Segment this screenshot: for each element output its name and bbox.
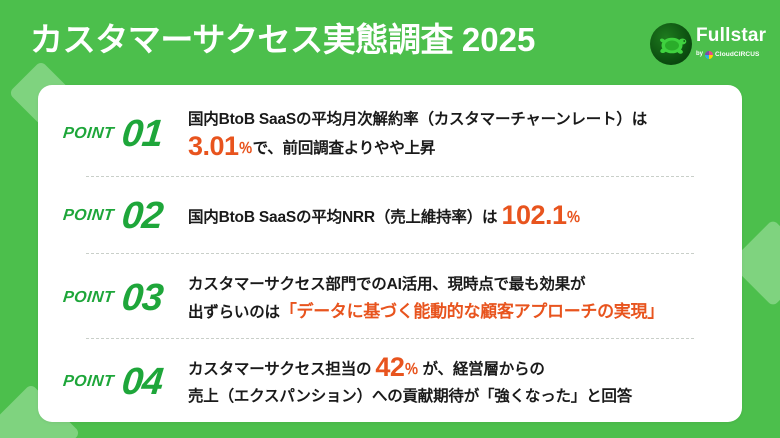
point-badge-03: POINT 03 [38,279,188,317]
point-label: POINT [62,289,115,307]
page-title-main: カスタマーサクセス実態調査 [30,21,453,58]
divider [86,176,694,177]
point-line-1-pre: 国内BtoB SaaSの平均NRR（売上維持率）は [188,209,501,226]
point-number: 03 [120,279,164,317]
point-value-unit: ％ [239,140,253,156]
slide-canvas: カスタマーサクセス実態調査 2025 Fullstar by CloudCIRC… [0,0,780,438]
point-line-2-pre: 出ずらいのは [188,304,280,321]
point-number: 01 [120,115,164,153]
point-line-2: 売上（エクスパンション）への貢献期待が「強くなった」と回答 [188,383,742,410]
point-badge-01: POINT 01 [38,115,188,153]
point-line-1-post: が、経営層からの [418,361,544,378]
point-line-1: 国内BtoB SaaSの平均NRR（売上維持率）は 102.1％ [188,202,742,231]
point-line-1-pre: カスタマーサクセス担当の [188,361,375,378]
point-row: POINT 03 カスタマーサクセス部門でのAI活用、現時点で最も効果が 出ずら… [38,257,742,339]
point-line-1: カスタマーサクセス担当の 42％ が、経営層からの [188,354,742,383]
point-highlight-quote: 「データに基づく能動的な顧客アプローチの実現」 [280,302,664,321]
point-value: 42 [375,352,404,382]
point-line-2-rest: で、前回調査よりやや上昇 [253,140,436,157]
turtle-icon [650,23,692,65]
slide-header: カスタマーサクセス実態調査 2025 Fullstar by CloudCIRC… [0,0,780,84]
point-row: POINT 01 国内BtoB SaaSの平均月次解約率（カスタマーチャーンレー… [38,93,742,175]
logo-company-name: CloudCIRCUS [715,50,759,59]
point-value-unit: ％ [404,361,418,377]
point-label: POINT [62,373,115,391]
point-label: POINT [62,207,115,225]
point-value-unit: ％ [567,209,581,225]
page-title: カスタマーサクセス実態調査 2025 [30,18,535,62]
point-line-1: 国内BtoB SaaSの平均月次解約率（カスタマーチャーンレート）は [188,106,742,133]
page-title-year: 2025 [462,21,535,58]
points-card: POINT 01 国内BtoB SaaSの平均月次解約率（カスタマーチャーンレー… [38,85,742,422]
cloudcircus-icon [705,51,713,59]
logo-wordmark: Fullstar [696,26,766,45]
point-text-01: 国内BtoB SaaSの平均月次解約率（カスタマーチャーンレート）は 3.01％… [188,106,742,162]
point-value: 3.01 [188,131,239,161]
logo-by-label: by [696,50,703,59]
point-line-1: カスタマーサクセス部門でのAI活用、現時点で最も効果が [188,271,742,298]
point-text-02: 国内BtoB SaaSの平均NRR（売上維持率）は 102.1％ [188,202,742,231]
point-line-2: 出ずらいのは「データに基づく能動的な顧客アプローチの実現」 [188,298,742,326]
point-badge-04: POINT 04 [38,363,188,401]
point-row: POINT 04 カスタマーサクセス担当の 42％ が、経営層からの 売上（エク… [38,342,742,422]
point-number: 04 [120,363,164,401]
point-badge-02: POINT 02 [38,197,188,235]
point-label: POINT [62,125,115,143]
point-value: 102.1 [501,200,566,230]
point-text-03: カスタマーサクセス部門でのAI活用、現時点で最も効果が 出ずらいのは「データに基… [188,271,742,326]
fullstar-logo[interactable]: Fullstar by CloudCIRCUS [650,20,774,70]
point-text-04: カスタマーサクセス担当の 42％ が、経営層からの 売上（エクスパンション）への… [188,354,742,410]
divider [86,253,694,254]
point-row: POINT 02 国内BtoB SaaSの平均NRR（売上維持率）は 102.1… [38,180,742,252]
point-number: 02 [120,197,164,235]
divider [86,338,694,339]
point-line-2: 3.01％で、前回調査よりやや上昇 [188,133,742,162]
logo-byline: by CloudCIRCUS [696,50,759,59]
